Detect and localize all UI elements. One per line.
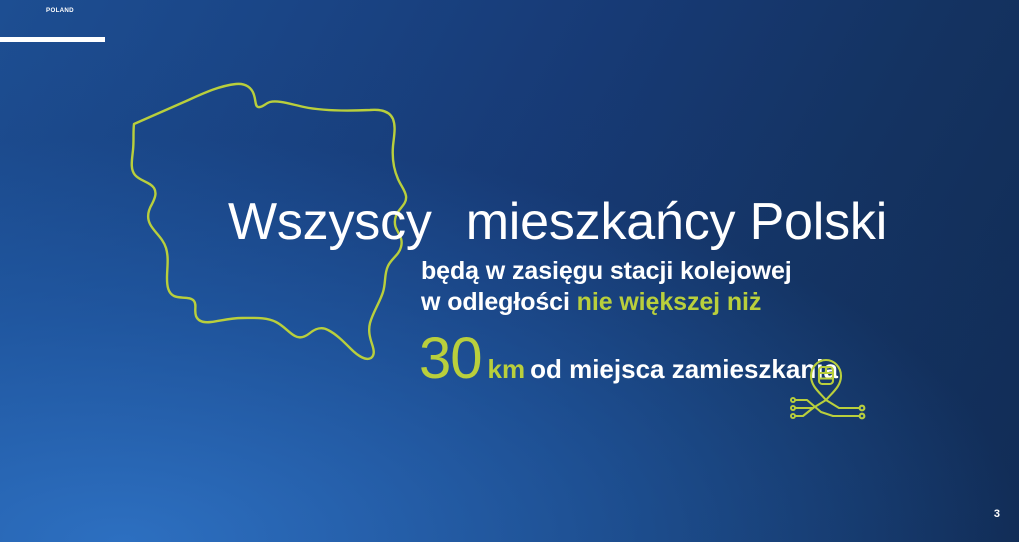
headline-part-2: mieszkańcy Polski xyxy=(466,193,887,251)
subtitle-line-1: będą w zasięgu stacji kolejowej xyxy=(421,259,792,284)
distance-statement: 30kmod miejsca zamieszkania xyxy=(419,330,838,388)
logo-line-1: SOLIDARITY TRANSPORT HUB xyxy=(0,0,120,4)
logo-line-2: POLAND xyxy=(0,6,120,16)
railway-station-pin-icon xyxy=(783,356,869,422)
page-title: Wszyscymieszkańcy Polski xyxy=(228,196,887,248)
subtitle-line-2: w odległości nie większej niż xyxy=(421,290,761,315)
subtitle-line-2-accent: nie większej niż xyxy=(577,288,762,316)
subtitle-line-2-prefix: w odległości xyxy=(421,288,577,316)
distance-number: 30 xyxy=(419,326,482,391)
presentation-slide: SOLIDARITY TRANSPORT HUB POLAND Wszyscym… xyxy=(0,0,1019,542)
accent-bar xyxy=(0,37,105,42)
distance-unit: km xyxy=(488,354,526,384)
logo: SOLIDARITY TRANSPORT HUB POLAND xyxy=(0,0,120,16)
page-number: 3 xyxy=(994,508,1000,520)
headline-part-1: Wszyscy xyxy=(228,193,432,251)
